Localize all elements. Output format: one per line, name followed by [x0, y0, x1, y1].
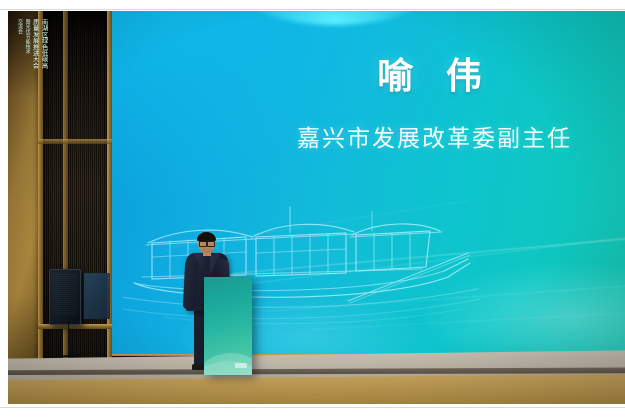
podium-sign-line-3: 暨光伏节能技术 [24, 19, 30, 103]
wall-frame-rail-upper [38, 139, 112, 144]
glasses-icon [198, 240, 215, 244]
presenter-arm-left [183, 259, 199, 310]
screen-top-glow [240, 11, 430, 25]
frame-rule-top [0, 9, 625, 10]
photo-page: 喻 伟 嘉兴市发展改革委副主任 [0, 0, 625, 420]
page-title: 喻 伟 [181, 47, 625, 99]
podium-sign-text: 南湖区绿色低碳高 质量发展推进大会 暨光伏节能技术 交流会 [8, 19, 56, 103]
stage-photograph: 喻 伟 嘉兴市发展改革委副主任 [8, 11, 625, 404]
podium-sign-line-2: 质量发展推进大会 [32, 19, 39, 103]
wall-mounted-pa-speaker [49, 269, 81, 325]
podium-logo-mark [235, 363, 247, 368]
floor-microphone-stand [68, 321, 69, 357]
podium-sign-line-1: 南湖区绿色低碳高 [41, 19, 48, 103]
frame-rule-bottom [0, 407, 625, 408]
page-subtitle: 嘉兴市发展改革委副主任 [181, 119, 625, 153]
podium-sign-line-4: 交流会 [16, 19, 22, 103]
acoustic-wall-panel [84, 273, 110, 319]
podium [204, 277, 252, 375]
